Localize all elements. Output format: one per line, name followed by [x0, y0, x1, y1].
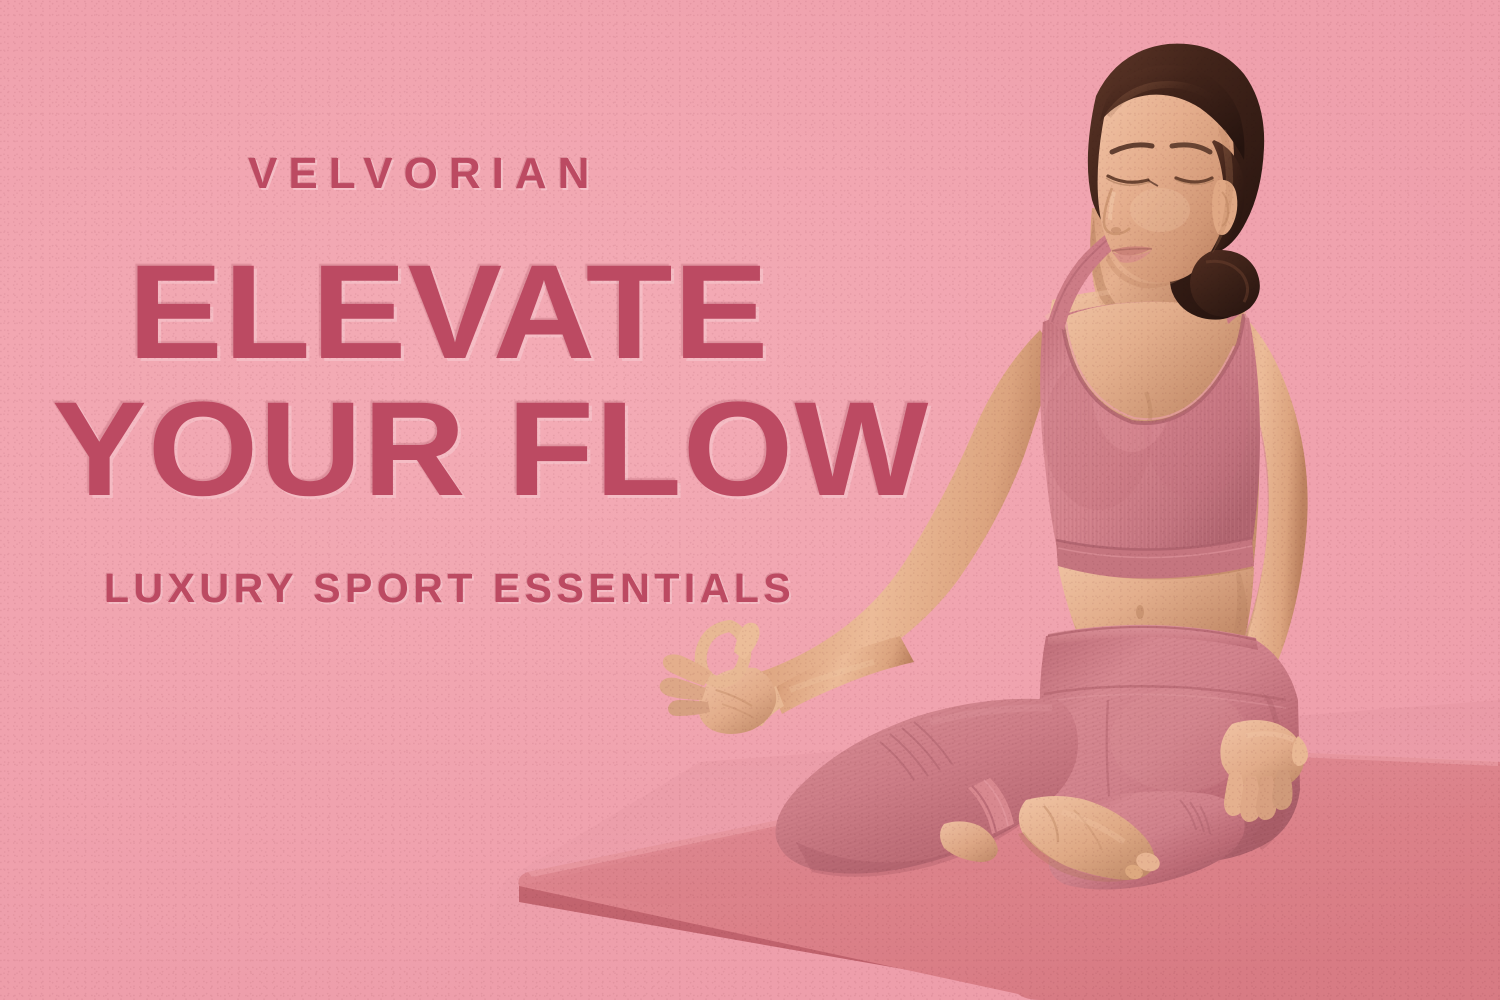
- banner-canvas: VELVORIAN ELEVATE YOUR FLOW LUXURY SPORT…: [0, 0, 1500, 1000]
- background-grain: [0, 0, 1500, 1000]
